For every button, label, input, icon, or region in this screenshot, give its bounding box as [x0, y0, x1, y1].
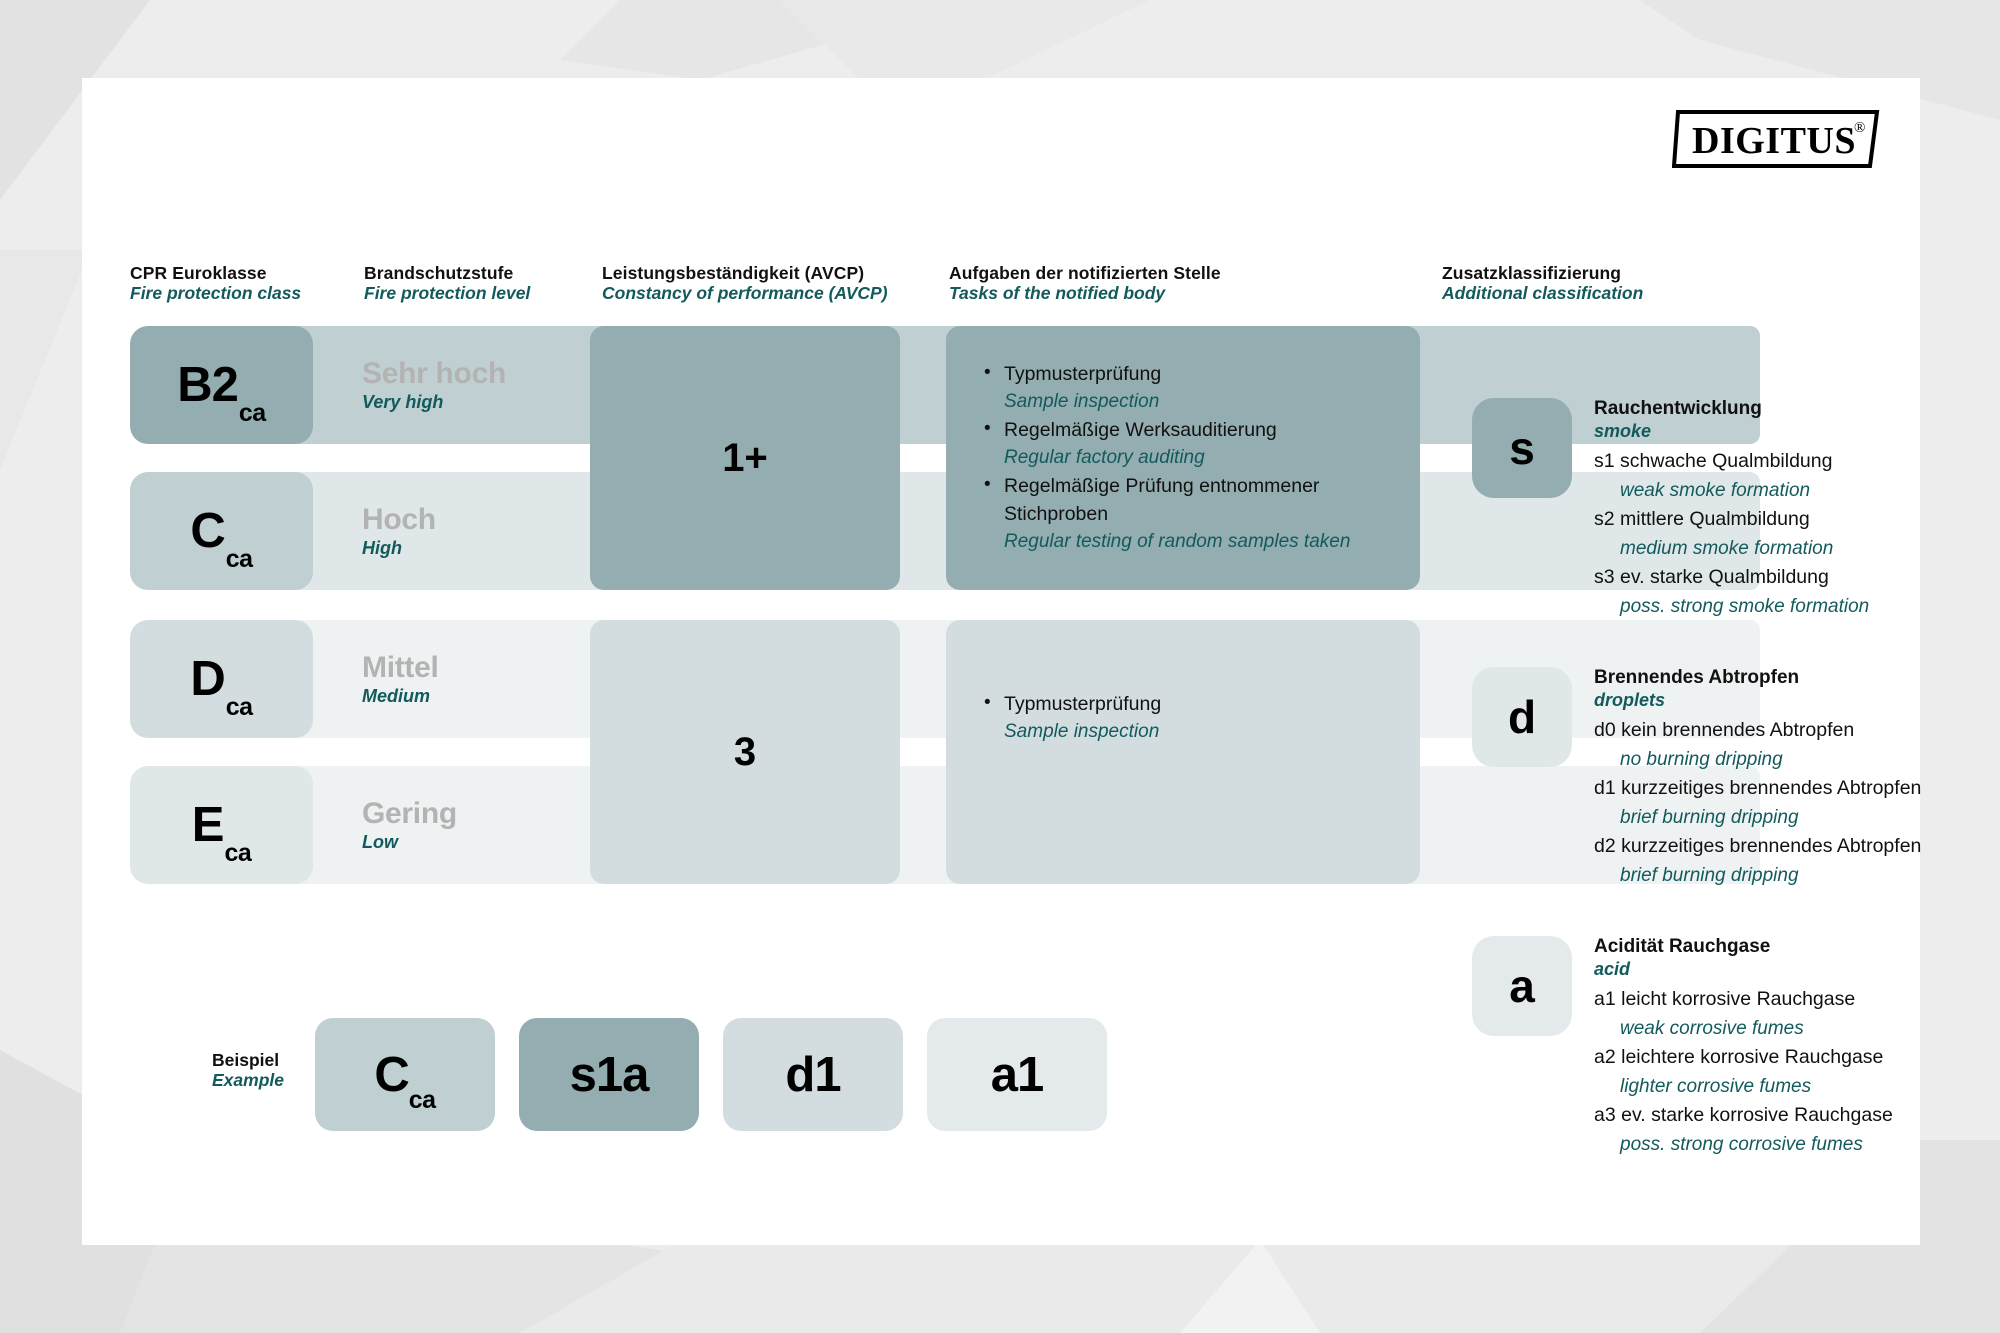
additional-row-de: a3 ev. starke korrosive Rauchgase — [1594, 1101, 1942, 1130]
additional-row-de: s2 mittlere Qualmbildung — [1594, 505, 1942, 534]
header-fire-protection-level: Brandschutzstufe Fire protection level — [364, 263, 530, 304]
header-de: Zusatzklassifizierung — [1442, 263, 1643, 283]
infographic-card: DIGITUS ® CPR Euroklasse Fire protection… — [82, 78, 1920, 1245]
level-en: Medium — [362, 684, 439, 708]
additional-badge-s[interactable]: s — [1472, 398, 1572, 498]
additional-row-en: weak smoke formation — [1594, 476, 1942, 505]
class-badge-b2[interactable]: B2 ca — [130, 326, 313, 444]
task-item: Regelmäßige Werksauditierung Regular fac… — [982, 416, 1394, 472]
additional-row-en: poss. strong smoke formation — [1594, 592, 1942, 621]
additional-title-de: Rauchentwicklung — [1594, 398, 1942, 420]
task-en: Sample inspection — [982, 718, 1394, 746]
example-box-smoke[interactable]: s1a — [519, 1018, 699, 1131]
task-item: Typmusterprüfung Sample inspection — [982, 360, 1394, 416]
class-letter: D — [190, 651, 224, 707]
header-en: Fire protection class — [130, 283, 301, 304]
class-letter: C — [190, 503, 224, 559]
header-en: Constancy of performance (AVCP) — [602, 283, 888, 304]
header-avcp: Leistungsbeständigkeit (AVCP) Constancy … — [602, 263, 888, 304]
class-subscript: ca — [239, 399, 266, 428]
example-label-de: Beispiel — [212, 1050, 284, 1070]
example-value: a1 — [991, 1047, 1044, 1103]
example-box-acid[interactable]: a1 — [927, 1018, 1107, 1131]
class-letter: B2 — [177, 357, 238, 413]
header-de: CPR Euroklasse — [130, 263, 301, 283]
tasks-list: Typmusterprüfung Sample inspection — [982, 690, 1394, 746]
additional-row-de: s3 ev. starke Qualmbildung — [1594, 563, 1942, 592]
additional-group-acid: a Acidität Rauchgase acid a1 leicht korr… — [1472, 936, 1942, 1159]
additional-row-en: poss. strong corrosive fumes — [1594, 1130, 1942, 1159]
class-badge-d[interactable]: D ca — [130, 620, 313, 738]
header-additional-classification: Zusatzklassifizierung Additional classif… — [1442, 263, 1643, 304]
additional-badge-d[interactable]: d — [1472, 667, 1572, 767]
additional-row-en: brief burning dripping — [1594, 861, 1942, 890]
additional-row-en: lighter corrosive fumes — [1594, 1072, 1942, 1101]
header-notified-body-tasks: Aufgaben der notifizierten Stelle Tasks … — [949, 263, 1221, 304]
level-en: Low — [362, 830, 457, 854]
avcp-box-1plus[interactable]: 1+ — [590, 326, 900, 590]
tasks-box-avcp3[interactable]: Typmusterprüfung Sample inspection — [946, 620, 1420, 884]
example-box-droplets[interactable]: d1 — [723, 1018, 903, 1131]
class-badge-c[interactable]: C ca — [130, 472, 313, 590]
task-en: Regular factory auditing — [982, 444, 1394, 472]
additional-title-en: smoke — [1594, 420, 1942, 443]
registered-trademark-icon: ® — [1854, 120, 1865, 136]
digitus-logo-text: DIGITUS — [1692, 120, 1856, 162]
additional-row-de: d1 kurzzeitiges brennendes Abtropfen — [1594, 774, 1942, 803]
class-subscript: ca — [226, 693, 253, 722]
level-d: Mittel Medium — [362, 652, 439, 708]
additional-title-en: acid — [1594, 958, 1942, 981]
level-e: Gering Low — [362, 798, 457, 854]
header-de: Brandschutzstufe — [364, 263, 530, 283]
level-en: Very high — [362, 390, 506, 414]
example-box-class[interactable]: C ca — [315, 1018, 495, 1131]
class-badge-e[interactable]: E ca — [130, 766, 313, 884]
task-en: Regular testing of random samples taken — [982, 528, 1394, 556]
example-value: d1 — [785, 1047, 840, 1103]
avcp-box-3[interactable]: 3 — [590, 620, 900, 884]
example-subscript: ca — [409, 1086, 436, 1115]
additional-group-droplets: d Brennendes Abtropfen droplets d0 kein … — [1472, 667, 1942, 890]
task-item: Typmusterprüfung Sample inspection — [982, 690, 1394, 746]
level-b2: Sehr hoch Very high — [362, 358, 506, 414]
task-en: Sample inspection — [982, 388, 1394, 416]
example-label: Beispiel Example — [212, 1050, 284, 1091]
header-de: Aufgaben der notifizierten Stelle — [949, 263, 1221, 283]
additional-title-en: droplets — [1594, 689, 1942, 712]
task-de: Regelmäßige Werksauditierung — [982, 416, 1394, 444]
task-item: Regelmäßige Prüfung entnommener Stichpro… — [982, 472, 1394, 556]
additional-row-de: a2 leichtere korrosive Rauchgase — [1594, 1043, 1942, 1072]
task-de: Typmusterprüfung — [982, 690, 1394, 718]
level-de: Mittel — [362, 652, 439, 684]
example-label-en: Example — [212, 1070, 284, 1091]
class-subscript: ca — [226, 545, 253, 574]
example-value: C — [374, 1047, 408, 1103]
additional-row-de: a1 leicht korrosive Rauchgase — [1594, 985, 1942, 1014]
tasks-box-avcp1plus[interactable]: Typmusterprüfung Sample inspection Regel… — [946, 326, 1420, 590]
additional-title-de: Acidität Rauchgase — [1594, 936, 1942, 958]
example-value: s1a — [570, 1047, 649, 1103]
header-en: Fire protection level — [364, 283, 530, 304]
additional-row-en: weak corrosive fumes — [1594, 1014, 1942, 1043]
additional-row-de: s1 schwache Qualmbildung — [1594, 447, 1942, 476]
avcp-value: 1+ — [722, 436, 768, 481]
additional-row-de: d0 kein brennendes Abtropfen — [1594, 716, 1942, 745]
class-subscript: ca — [224, 839, 251, 868]
additional-row-en: medium smoke formation — [1594, 534, 1942, 563]
task-de: Typmusterprüfung — [982, 360, 1394, 388]
additional-group-smoke: s Rauchentwicklung smoke s1 schwache Qua… — [1472, 398, 1942, 621]
additional-row-de: d2 kurzzeitiges brennendes Abtropfen — [1594, 832, 1942, 861]
level-de: Hoch — [362, 504, 436, 536]
header-en: Additional classification — [1442, 283, 1643, 304]
additional-row-en: no burning dripping — [1594, 745, 1942, 774]
column-headers: CPR Euroklasse Fire protection class Bra… — [130, 263, 1890, 311]
additional-title-de: Brennendes Abtropfen — [1594, 667, 1942, 689]
task-de: Regelmäßige Prüfung entnommener Stichpro… — [982, 472, 1394, 528]
level-de: Sehr hoch — [362, 358, 506, 390]
header-de: Leistungsbeständigkeit (AVCP) — [602, 263, 888, 283]
digitus-logo: DIGITUS ® — [1672, 108, 1880, 170]
additional-row-en: brief burning dripping — [1594, 803, 1942, 832]
tasks-list: Typmusterprüfung Sample inspection Regel… — [982, 360, 1394, 556]
class-letter: E — [192, 797, 224, 853]
level-en: High — [362, 536, 436, 560]
header-en: Tasks of the notified body — [949, 283, 1221, 304]
level-de: Gering — [362, 798, 457, 830]
additional-classification: s Rauchentwicklung smoke s1 schwache Qua… — [1472, 398, 1942, 1193]
example-row: Beispiel Example C ca s1a d1 a1 — [130, 1018, 1230, 1138]
header-fire-protection-class: CPR Euroklasse Fire protection class — [130, 263, 301, 304]
level-c: Hoch High — [362, 504, 436, 560]
additional-badge-a[interactable]: a — [1472, 936, 1572, 1036]
avcp-value: 3 — [734, 730, 756, 775]
